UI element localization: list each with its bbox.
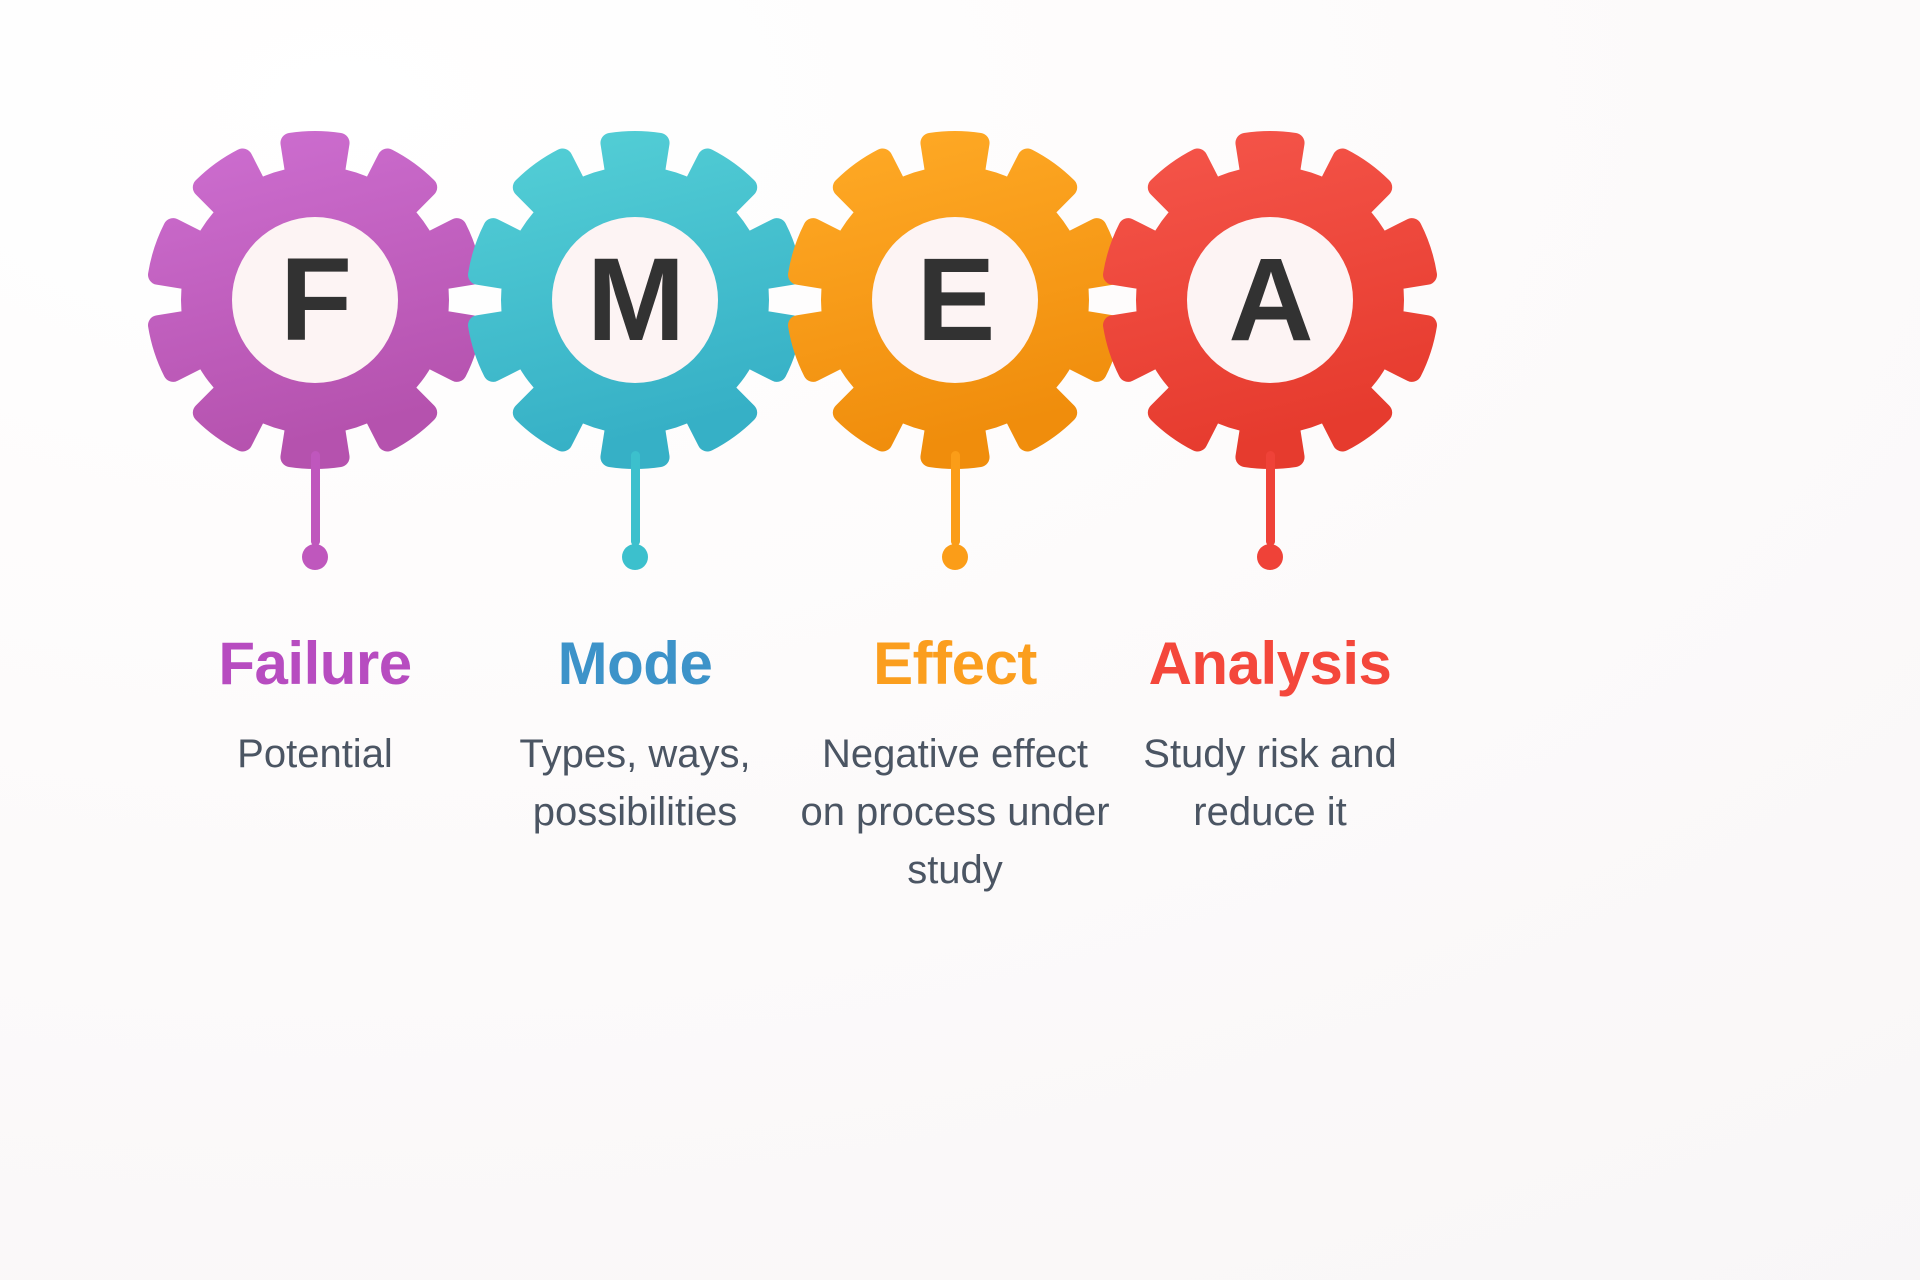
step-column-a: AAnalysisStudy risk and reduce it bbox=[1105, 0, 1435, 841]
connector-dot bbox=[1257, 544, 1283, 570]
gear-letter-a: A bbox=[1105, 241, 1435, 359]
connector-line bbox=[951, 451, 960, 546]
infographic-canvas: FFailurePotentialMModeTypes, ways, possi… bbox=[0, 0, 1920, 1280]
connector-dot bbox=[942, 544, 968, 570]
step-heading-m: Mode bbox=[558, 632, 713, 695]
connector-stem-a bbox=[1263, 451, 1277, 570]
gear-icon-f: F bbox=[150, 135, 480, 465]
step-column-e: EEffectNegative effect on process under … bbox=[790, 0, 1120, 899]
connector-stem-e bbox=[948, 451, 962, 570]
step-column-f: FFailurePotential bbox=[150, 0, 480, 783]
gear-icon-a: A bbox=[1105, 135, 1435, 465]
connector-stem-m bbox=[628, 451, 642, 570]
step-column-m: MModeTypes, ways, possibilities bbox=[470, 0, 800, 841]
connector-line bbox=[311, 451, 320, 546]
gear-letter-e: E bbox=[790, 241, 1120, 359]
gear-letter-f: F bbox=[150, 241, 480, 359]
connector-dot bbox=[622, 544, 648, 570]
connector-dot bbox=[302, 544, 328, 570]
connector-line bbox=[1266, 451, 1275, 546]
step-heading-a: Analysis bbox=[1149, 632, 1392, 695]
connector-line bbox=[631, 451, 640, 546]
gear-icon-m: M bbox=[470, 135, 800, 465]
step-subtitle-a: Study risk and reduce it bbox=[1120, 725, 1420, 841]
step-subtitle-m: Types, ways, possibilities bbox=[485, 725, 785, 841]
step-subtitle-e: Negative effect on process under study bbox=[795, 725, 1115, 899]
step-subtitle-f: Potential bbox=[150, 725, 480, 783]
gear-icon-e: E bbox=[790, 135, 1120, 465]
connector-stem-f bbox=[308, 451, 322, 570]
step-heading-e: Effect bbox=[873, 632, 1037, 695]
step-heading-f: Failure bbox=[218, 632, 411, 695]
gear-letter-m: M bbox=[470, 241, 800, 359]
